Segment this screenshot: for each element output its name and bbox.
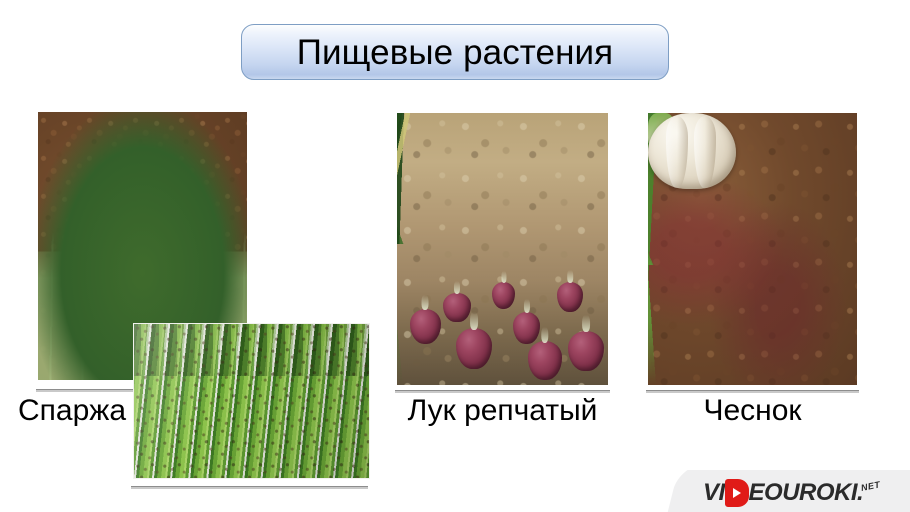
onion-field-photo (397, 113, 608, 385)
play-icon (733, 488, 741, 498)
caption-onion: Лук репчатый (397, 392, 608, 429)
videouroki-watermark: VI D EOUROKI. NET (655, 470, 910, 512)
watermark-text-part1: VI (703, 479, 725, 507)
page-title: Пищевые растения (297, 35, 613, 70)
slide-title-box: Пищевые растения (241, 24, 669, 80)
garlic-bulb (648, 113, 736, 189)
asparagus-spears-photo (133, 323, 370, 479)
slide-canvas: Пищевые растения Спаржа (0, 0, 910, 512)
watermark-play-badge: D (725, 479, 749, 507)
watermark-logo-text: VI D EOUROKI. NET (703, 479, 883, 507)
watermark-tld: NET (860, 479, 881, 493)
caption-garlic: Чеснок (648, 392, 857, 429)
asparagus-spears-underline (131, 486, 368, 489)
garlic-field-photo (648, 113, 857, 385)
caption-asparagus: Спаржа (18, 392, 144, 429)
watermark-text-part2: EOUROKI. (749, 479, 864, 507)
onion-dry-leaf (397, 113, 452, 271)
spears-lighting (134, 324, 369, 478)
